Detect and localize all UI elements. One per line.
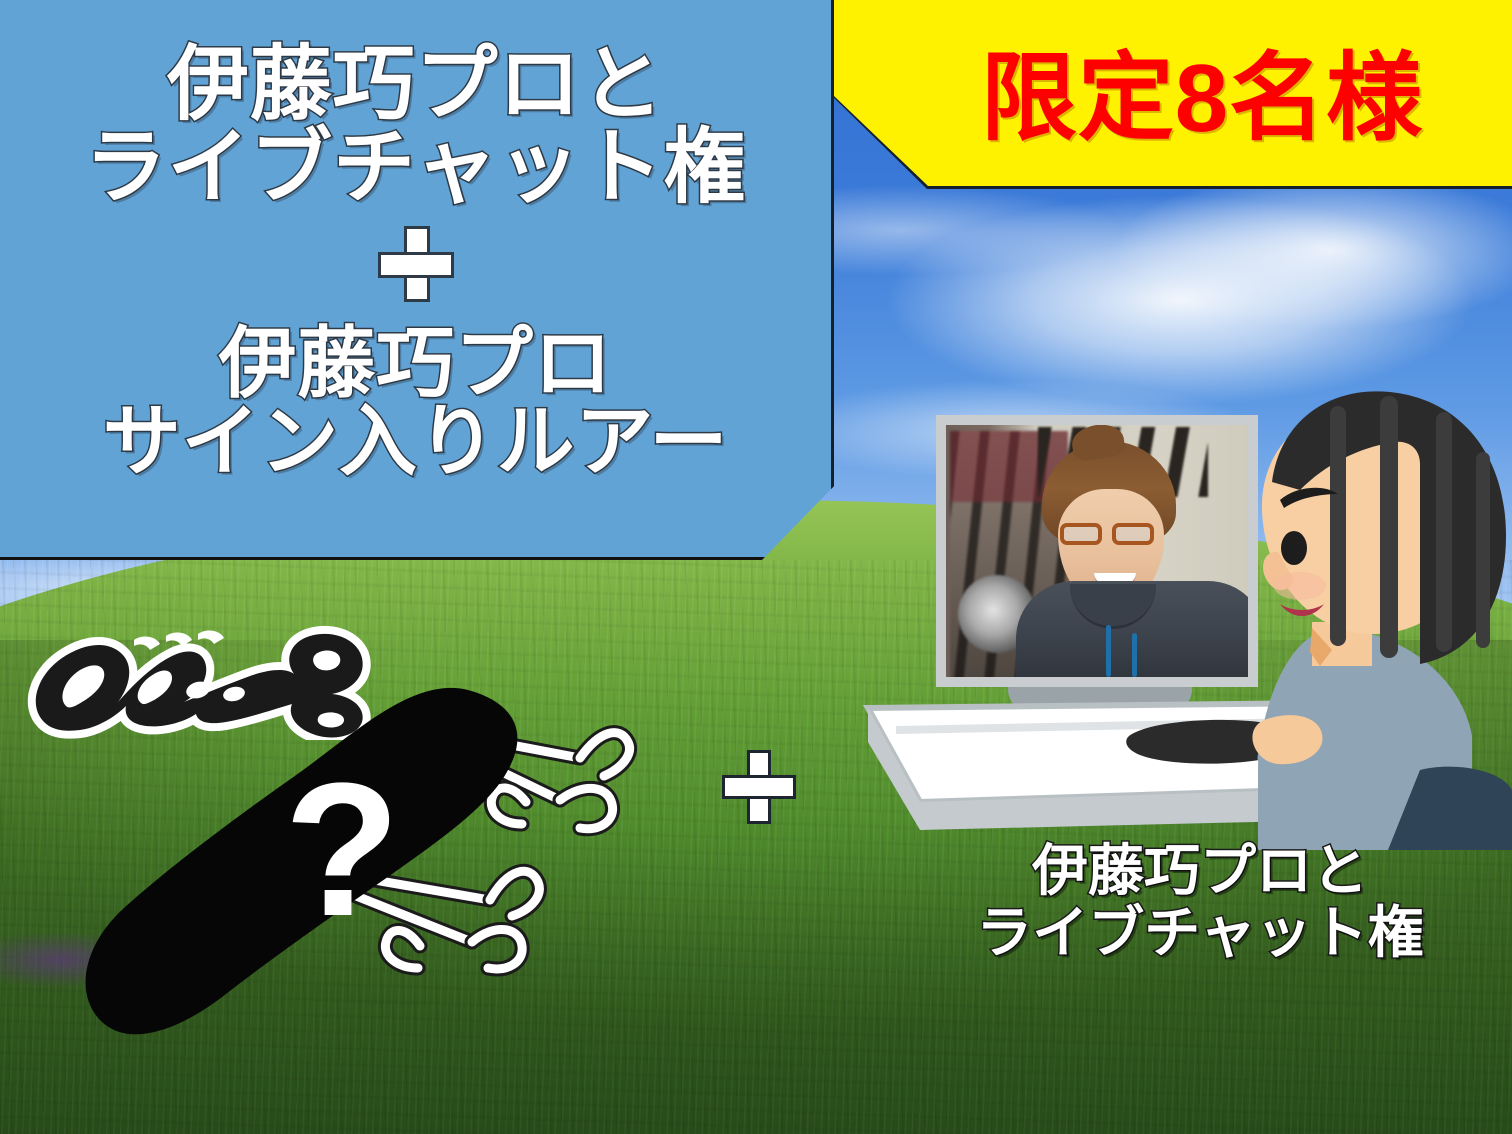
caption-line-1: 伊藤巧プロと	[930, 840, 1470, 902]
photo-background	[946, 425, 1248, 677]
banner-line-1: 伊藤巧プロと	[167, 42, 664, 129]
banner-line-4: サイン入りルアー	[103, 400, 729, 483]
promo-poster: 限定8名様 伊藤巧プロと ライブチャット権 伊藤巧プロ サイン入りルアー	[0, 0, 1512, 1134]
limited-seats-banner: 限定8名様	[832, 0, 1512, 186]
cheek	[1274, 572, 1326, 600]
photo-hoodie-drawstring-2	[1132, 633, 1137, 677]
photo-person-glasses	[1058, 521, 1168, 547]
banner-line-2: ライブチャット権	[85, 125, 747, 212]
plus-icon	[378, 226, 454, 302]
live-chat-caption: 伊藤巧プロと ライブチャット権	[930, 840, 1470, 963]
question-mark: ?	[284, 755, 400, 945]
prize-description-banner: 伊藤巧プロと ライブチャット権 伊藤巧プロ サイン入りルアー	[0, 0, 834, 560]
limited-seats-text: 限定8名様	[981, 51, 1423, 147]
center-plus-icon	[722, 750, 796, 824]
caption-line-2: ライブチャット権	[930, 902, 1470, 964]
photo-hoodie-drawstring	[1106, 625, 1111, 677]
eye	[1281, 531, 1307, 565]
monitor-screen-photo	[936, 415, 1258, 687]
banner-line-3: 伊藤巧プロ	[219, 322, 613, 405]
